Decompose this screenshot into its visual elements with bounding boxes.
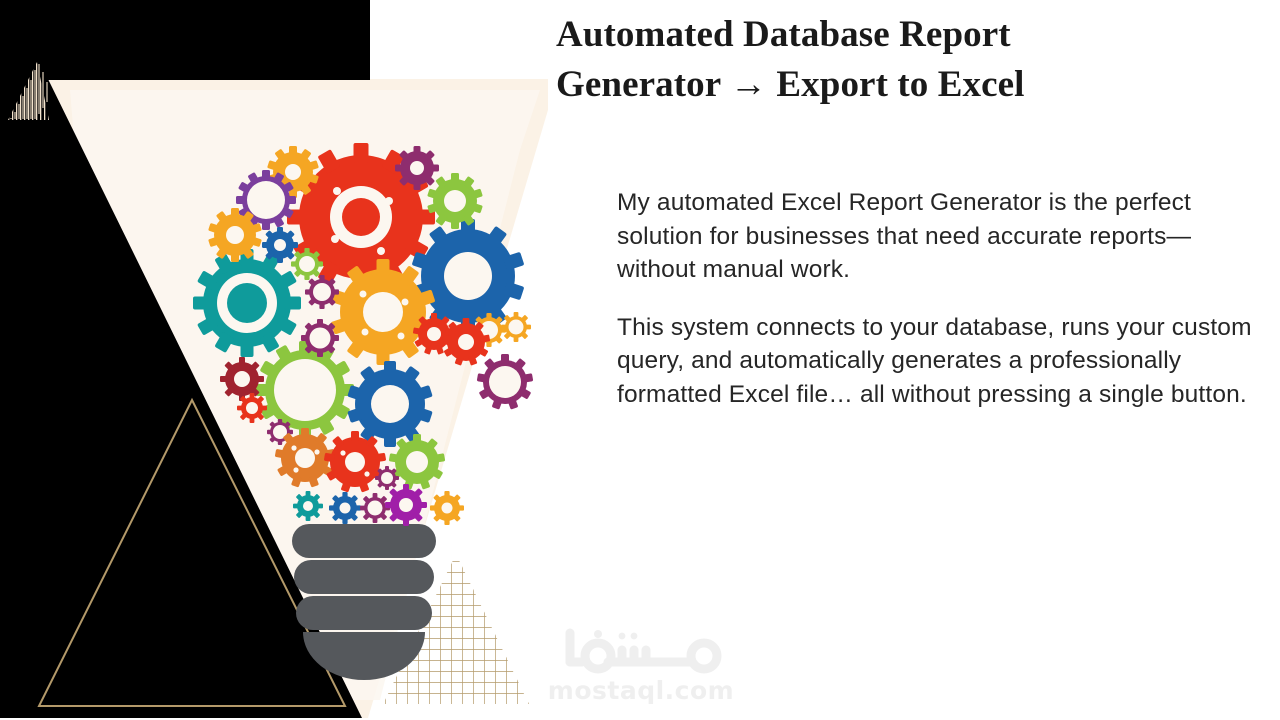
slide-title: Automated Database Report Generator → Ex… [556, 10, 1256, 111]
gear-red-tiny-left [237, 393, 267, 423]
mostaql-watermark: mostaql.com [536, 628, 746, 712]
mostaql-wordmark: mostaql.com [536, 676, 746, 705]
lightbulb-screw-base [292, 524, 436, 680]
gear-maroon-ring-small [305, 275, 339, 309]
gear-blue-small-left [262, 227, 298, 263]
gear-green-ring-tiny [291, 248, 323, 280]
slide-canvas: Automated Database Report Generator → Ex… [0, 0, 1280, 720]
slide-body: My automated Excel Report Generator is t… [617, 186, 1257, 411]
black-header-rect [0, 0, 370, 80]
gear-amber-ring-far-right [501, 312, 531, 342]
gear-maroon-tiny-bottom [360, 493, 390, 523]
gear-blue-tiny-bottom [329, 492, 361, 524]
gear-darkred-left-low [220, 357, 264, 401]
slide-paragraph-2: This system connects to your database, r… [617, 311, 1257, 412]
gear-maroon-ring-mid [301, 319, 339, 357]
gear-amber-bottom-right [430, 491, 464, 525]
slide-title-line-2: Generator → Export to Excel [556, 60, 1256, 110]
gear-purple-tiny-bottom [385, 484, 427, 526]
slide-paragraph-1: My automated Excel Report Generator is t… [617, 186, 1257, 287]
gear-maroon-ring-tiny-low [375, 466, 399, 490]
gear-teal-tiny-bottom [293, 491, 323, 521]
mostaql-dots-icon [594, 630, 637, 639]
mostaql-arabic-logo-icon [536, 628, 746, 674]
slide-title-line-1: Automated Database Report [556, 10, 1256, 60]
gear-maroon-top-right [395, 146, 439, 190]
